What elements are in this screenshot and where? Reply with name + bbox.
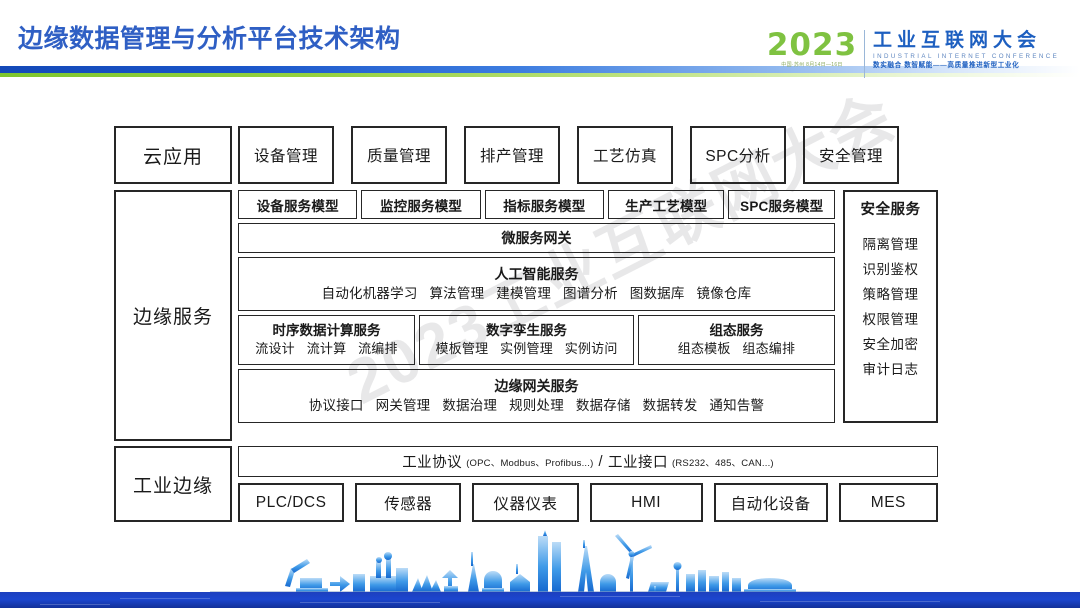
layer-label-edge-service: 边缘服务 bbox=[114, 190, 232, 441]
edge-service-panel: 设备服务模型 监控服务模型 指标服务模型 生产工艺模型 SPC服务模型 微服务网… bbox=[238, 190, 938, 441]
ai-service-title: 人工智能服务 bbox=[495, 265, 579, 284]
service-model-monitoring[interactable]: 监控服务模型 bbox=[361, 190, 480, 219]
architecture-diagram: 2023工业互联网大会 云应用 边缘服务 工业边缘 设备管理 质量管理 排产管理… bbox=[114, 126, 938, 522]
ai-item-graph-analysis: 图谱分析 bbox=[563, 286, 618, 301]
skyline-silhouette bbox=[285, 530, 796, 592]
digital-twin-service-box[interactable]: 数字孪生服务 模板管理 实例管理 实例访问 bbox=[419, 315, 634, 365]
ai-item-graph-database: 图数据库 bbox=[630, 286, 685, 301]
configuration-title: 组态服务 bbox=[710, 322, 764, 340]
edge-gw-item-rule-processing: 规则处理 bbox=[509, 398, 564, 413]
edge-gw-item-notification-alarm: 通知告警 bbox=[709, 398, 764, 413]
configuration-items: 组态模板 组态编排 bbox=[674, 340, 799, 358]
industrial-device-row: PLC/DCS 传感器 仪器仪表 HMI 自动化设备 MES bbox=[238, 483, 938, 522]
device-box-hmi[interactable]: HMI bbox=[590, 483, 703, 522]
interface-detail: (RS232、485、CAN...) bbox=[672, 455, 774, 469]
device-box-instrumentation[interactable]: 仪器仪表 bbox=[472, 483, 578, 522]
logo-tagline: 数实融合 数智赋能——高质量推进新型工业化 bbox=[873, 61, 1059, 71]
service-model-spc[interactable]: SPC服务模型 bbox=[728, 190, 835, 219]
digital-twin-items: 模板管理 实例管理 实例访问 bbox=[431, 340, 621, 358]
app-box-quality-management[interactable]: 质量管理 bbox=[351, 126, 447, 184]
tri-service-row: 时序数据计算服务 流设计 流计算 流编排 数字孪生服务 模板管理 实例管理 实例… bbox=[238, 315, 835, 365]
edge-gw-item-data-governance: 数据治理 bbox=[442, 398, 497, 413]
ai-service-box[interactable]: 人工智能服务 自动化机器学习 算法管理 建模管理 图谱分析 图数据库 镜像仓库 bbox=[238, 257, 835, 311]
page-header: 边缘数据管理与分析平台技术架构 2023 中国·苏州 8月14日—16日 工业互… bbox=[0, 0, 1080, 92]
device-box-automation-equipment[interactable]: 自动化设备 bbox=[714, 483, 828, 522]
protocol-separator: / bbox=[598, 454, 603, 470]
app-box-spc-analysis[interactable]: SPC分析 bbox=[690, 126, 786, 184]
digital-twin-title: 数字孪生服务 bbox=[486, 322, 567, 340]
industrial-protocol-box[interactable]: 工业协议 (OPC、Modbus、Profibus...) / 工业接口 (RS… bbox=[238, 446, 938, 477]
security-item-permission-management: 权限管理 bbox=[863, 307, 919, 332]
skyline-graphic bbox=[0, 530, 1080, 608]
footer-skyline bbox=[0, 530, 1080, 608]
ai-service-items: 自动化机器学习 算法管理 建模管理 图谱分析 图数据库 镜像仓库 bbox=[318, 284, 756, 304]
timeseries-item-stream-design: 流设计 bbox=[255, 341, 295, 356]
service-model-production-process[interactable]: 生产工艺模型 bbox=[608, 190, 724, 219]
security-item-identification-authentication: 识别鉴权 bbox=[863, 257, 919, 282]
timeseries-title: 时序数据计算服务 bbox=[273, 322, 381, 340]
edge-gateway-service-box[interactable]: 边缘网关服务 协议接口 网关管理 数据治理 规则处理 数据存储 数据转发 通知告… bbox=[238, 369, 835, 423]
conference-logo: 2023 中国·苏州 8月14日—16日 工业互联网大会 INDUSTRIAL … bbox=[766, 28, 1059, 84]
logo-divider bbox=[864, 30, 865, 78]
security-item-isolation-management: 隔离管理 bbox=[863, 232, 919, 257]
app-box-process-simulation[interactable]: 工艺仿真 bbox=[577, 126, 673, 184]
configuration-service-box[interactable]: 组态服务 组态模板 组态编排 bbox=[638, 315, 835, 365]
microservice-gateway-box[interactable]: 微服务网关 bbox=[238, 223, 835, 253]
device-box-sensor[interactable]: 传感器 bbox=[355, 483, 461, 522]
edge-gw-item-gateway-management: 网关管理 bbox=[376, 398, 431, 413]
device-box-mes[interactable]: MES bbox=[839, 483, 938, 522]
protocol-detail: (OPC、Modbus、Profibus...) bbox=[466, 455, 593, 469]
ai-item-modeling-management: 建模管理 bbox=[496, 286, 551, 301]
app-box-device-management[interactable]: 设备管理 bbox=[238, 126, 334, 184]
digital-twin-item-template-management: 模板管理 bbox=[435, 341, 488, 356]
logo-name-en: INDUSTRIAL INTERNET CONFERENCE bbox=[873, 52, 1059, 61]
layer-label-column: 云应用 边缘服务 工业边缘 bbox=[114, 126, 232, 522]
edge-gw-item-data-forwarding: 数据转发 bbox=[643, 398, 698, 413]
security-item-audit-log: 审计日志 bbox=[863, 357, 919, 382]
edge-gateway-title: 边缘网关服务 bbox=[495, 377, 579, 396]
device-box-plc-dcs[interactable]: PLC/DCS bbox=[238, 483, 344, 522]
service-model-indicator[interactable]: 指标服务模型 bbox=[485, 190, 604, 219]
cloud-application-row: 设备管理 质量管理 排产管理 工艺仿真 SPC分析 安全管理 bbox=[238, 126, 938, 184]
security-item-encryption: 安全加密 bbox=[863, 332, 919, 357]
digital-twin-item-instance-management: 实例管理 bbox=[500, 341, 553, 356]
app-box-security-management[interactable]: 安全管理 bbox=[803, 126, 899, 184]
footer-band bbox=[0, 592, 1080, 608]
configuration-item-template: 组态模板 bbox=[678, 341, 731, 356]
ai-item-automl: 自动化机器学习 bbox=[322, 286, 418, 301]
protocol-label: 工业协议 bbox=[402, 451, 462, 472]
timeseries-item-stream-compute: 流计算 bbox=[307, 341, 347, 356]
edge-gateway-items: 协议接口 网关管理 数据治理 规则处理 数据存储 数据转发 通知告警 bbox=[305, 396, 768, 416]
ai-item-image-repository: 镜像仓库 bbox=[697, 286, 752, 301]
timeseries-items: 流设计 流计算 流编排 bbox=[251, 340, 401, 358]
timeseries-compute-service-box[interactable]: 时序数据计算服务 流设计 流计算 流编排 bbox=[238, 315, 415, 365]
timeseries-item-stream-orchestration: 流编排 bbox=[358, 341, 398, 356]
logo-year-block: 2023 中国·苏州 8月14日—16日 bbox=[766, 28, 858, 69]
page-title: 边缘数据管理与分析平台技术架构 bbox=[18, 19, 401, 55]
digital-twin-item-instance-access: 实例访问 bbox=[565, 341, 618, 356]
edge-gw-item-data-storage: 数据存储 bbox=[576, 398, 631, 413]
logo-text-block: 工业互联网大会 INDUSTRIAL INTERNET CONFERENCE 数… bbox=[873, 28, 1059, 71]
app-box-production-scheduling[interactable]: 排产管理 bbox=[464, 126, 560, 184]
logo-date: 中国·苏州 8月14日—16日 bbox=[766, 62, 858, 69]
interface-label: 工业接口 bbox=[608, 451, 668, 472]
logo-year: 2023 bbox=[766, 28, 858, 62]
logo-name-cn: 工业互联网大会 bbox=[873, 30, 1059, 52]
layer-label-cloud: 云应用 bbox=[114, 126, 232, 184]
service-model-row: 设备服务模型 监控服务模型 指标服务模型 生产工艺模型 SPC服务模型 bbox=[238, 190, 835, 219]
service-model-device[interactable]: 设备服务模型 bbox=[238, 190, 357, 219]
ai-item-algorithm-management: 算法管理 bbox=[429, 286, 484, 301]
security-service-column[interactable]: 安全服务 隔离管理 识别鉴权 策略管理 权限管理 安全加密 审计日志 bbox=[843, 190, 938, 423]
layer-label-industrial-edge: 工业边缘 bbox=[114, 446, 232, 522]
security-item-policy-management: 策略管理 bbox=[863, 282, 919, 307]
configuration-item-orchestration: 组态编排 bbox=[742, 341, 795, 356]
edge-gw-item-protocol-interface: 协议接口 bbox=[309, 398, 364, 413]
security-service-title: 安全服务 bbox=[861, 198, 921, 219]
